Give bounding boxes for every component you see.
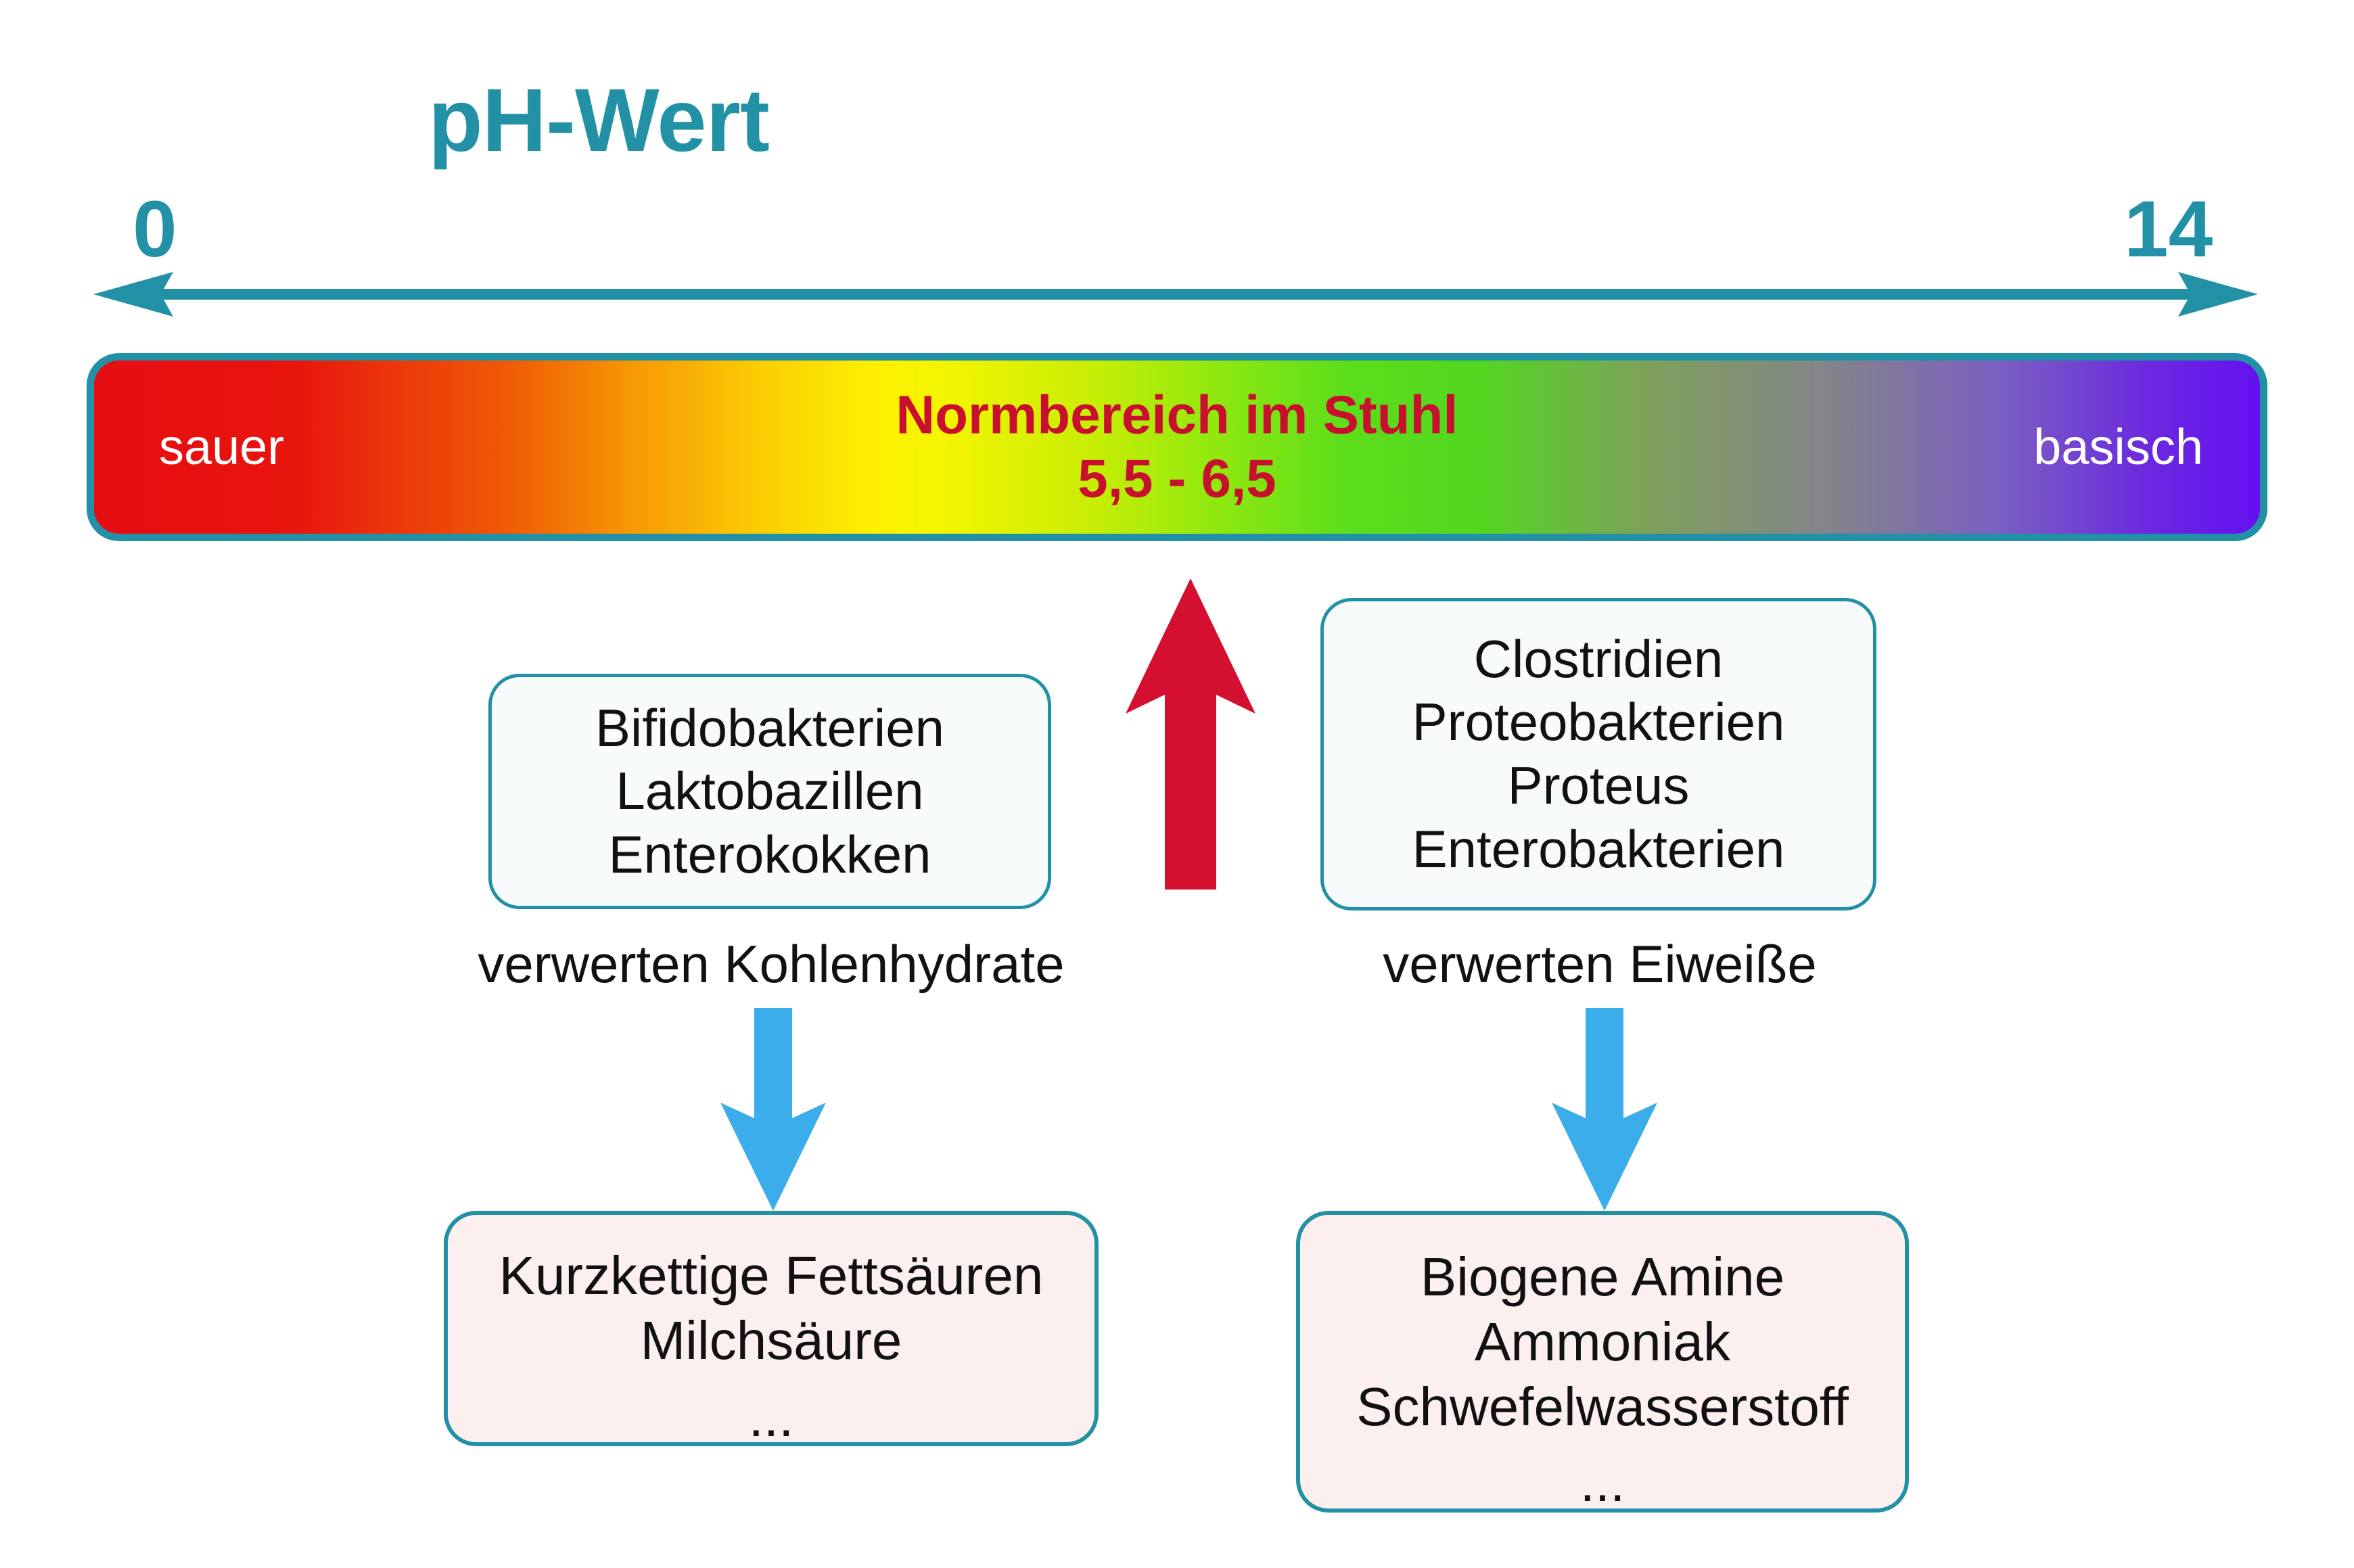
bacteria-acid-box: Bifidobakterien Laktobazillen Enterokokk… [488,674,1051,909]
axis-max-label: 14 [2124,189,2213,269]
list-item: Proteus [1508,754,1690,818]
normal-range-title: Normbereich im Stuhl [896,384,1458,447]
list-item: Kurzkettige Fettsäuren [499,1243,1044,1308]
horizontal-double-arrow-icon [93,271,2258,318]
list-item: Clostridien [1474,628,1723,691]
list-item: Enterokokken [609,823,931,887]
blue-down-arrow-icon-left [719,1008,827,1211]
list-item: Enterobakterien [1412,818,1785,881]
page-title: pH-Wert [0,76,1197,165]
caption-carbohydrates: verwerten Kohlenhydrate [446,938,1096,990]
caption-proteins: verwerten Eiweiße [1312,938,1887,990]
ellipsis-more: ... [1580,1456,1625,1510]
blue-down-arrow-icon-right [1550,1008,1659,1211]
infographic-canvas: pH-Wert 0 14 sauer Normbereich im Stuhl … [0,0,2354,1568]
list-item: Proteobakterien [1412,691,1785,754]
red-up-arrow-icon [1123,578,1258,890]
ph-scale-bar: sauer Normbereich im Stuhl 5,5 - 6,5 bas… [87,353,2267,541]
list-item: Milchsäure [641,1308,902,1373]
normal-range-value: 5,5 - 6,5 [896,447,1458,511]
list-item: Bifidobakterien [595,697,944,760]
list-item: Schwefelwasserstoff [1356,1375,1849,1439]
bacteria-base-box: Clostridien Proteobakterien Proteus Ente… [1320,598,1876,910]
base-label: basisch [2033,422,2203,472]
acid-label: sauer [159,422,284,472]
list-item: Biogene Amine [1421,1245,1784,1310]
axis-min-label: 0 [133,189,177,269]
products-base-box: Biogene Amine Ammoniak Schwefelwassersto… [1296,1211,1909,1513]
normal-range-annotation: Normbereich im Stuhl 5,5 - 6,5 [896,384,1458,511]
list-item: Ammoniak [1475,1310,1730,1375]
products-acid-box: Kurzkettige Fettsäuren Milchsäure ... [444,1211,1099,1446]
list-item: Laktobazillen [616,760,923,823]
ellipsis-more: ... [749,1391,794,1445]
